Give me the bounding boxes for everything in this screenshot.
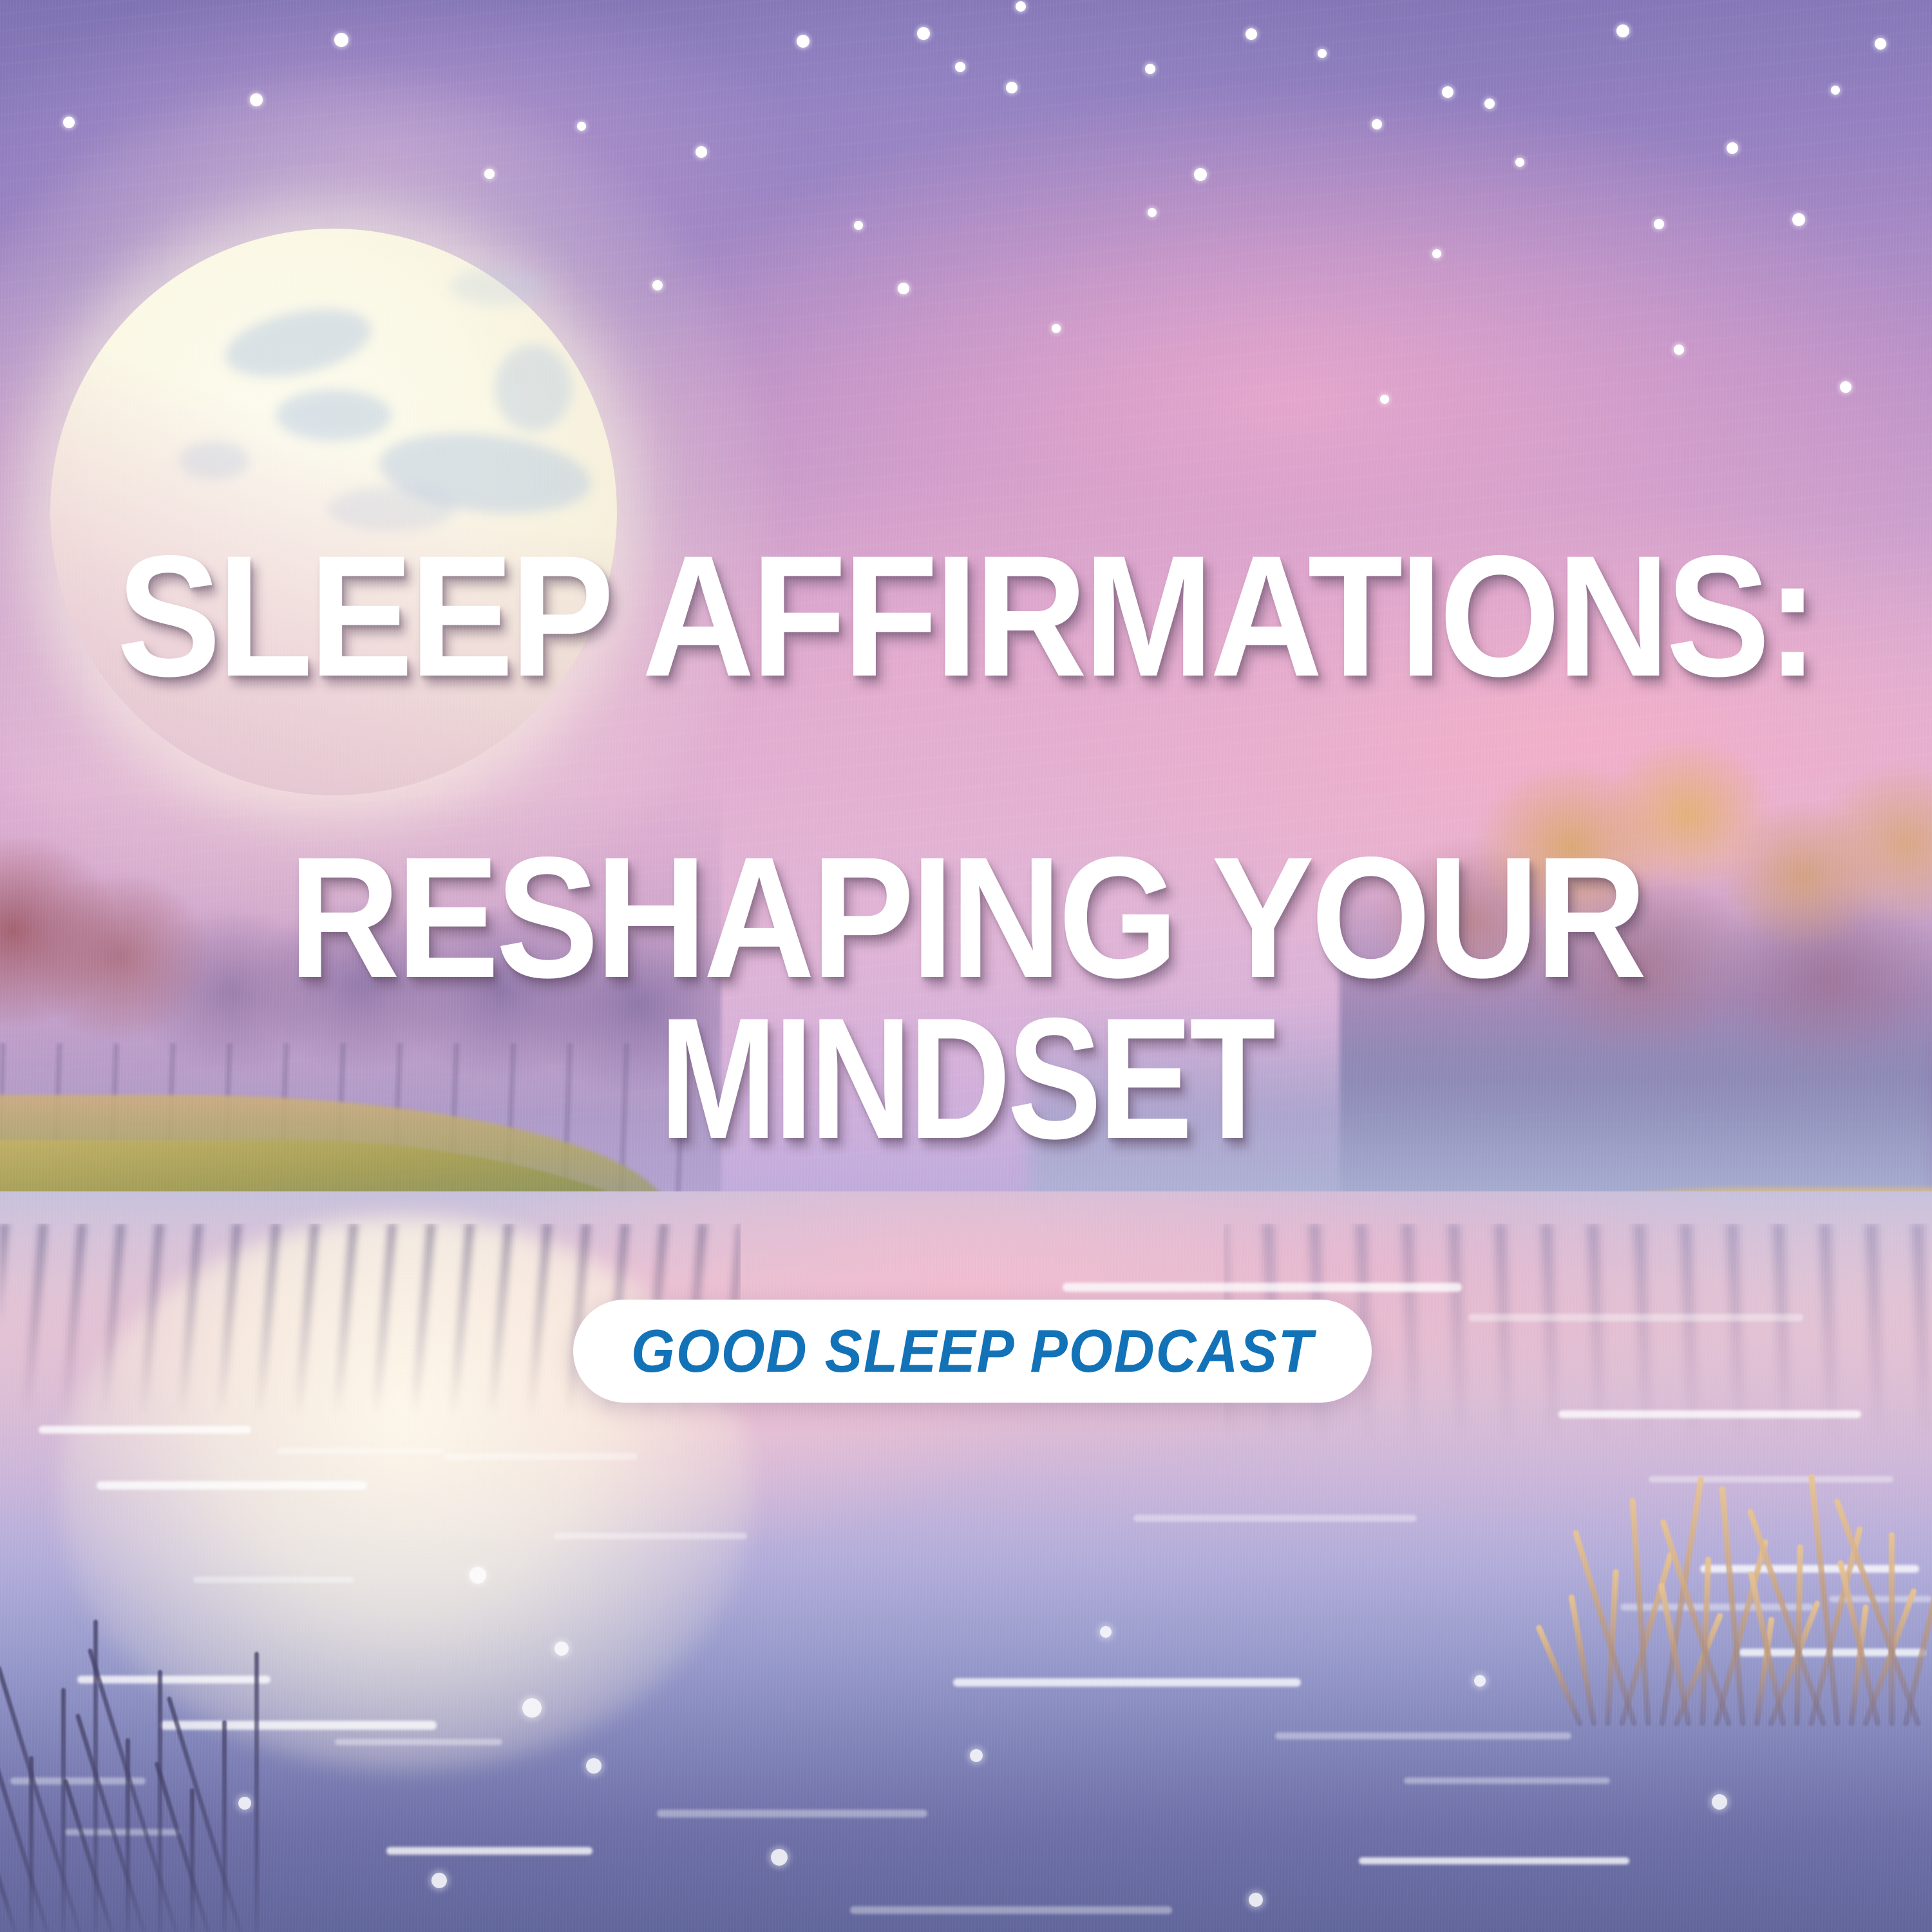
reed-stalk — [154, 1761, 210, 1932]
star-icon — [1674, 345, 1684, 355]
star-icon — [1432, 249, 1441, 258]
water-sparkle — [1474, 1675, 1486, 1687]
podcast-name-badge[interactable]: GOOD SLEEP PODCAST — [573, 1300, 1372, 1403]
water-sparkle — [1100, 1626, 1112, 1638]
foreground-reeds — [6, 1597, 277, 1932]
water-ripple — [1558, 1410, 1861, 1418]
reed-stalk — [61, 1688, 66, 1932]
star-icon — [1831, 86, 1840, 95]
water-ripple — [193, 1577, 354, 1583]
water-sparkle — [431, 1873, 447, 1888]
water-ripple — [97, 1481, 367, 1490]
star-icon — [1006, 82, 1018, 93]
star-icon — [577, 122, 586, 131]
water-ripple — [953, 1678, 1301, 1687]
right-reeds — [1552, 1455, 1932, 1726]
star-icon — [1654, 219, 1664, 229]
water-ripple — [1133, 1515, 1417, 1522]
reed-stalk — [190, 1788, 194, 1932]
reed-stalk — [1572, 1529, 1638, 1727]
star-icon — [917, 27, 930, 40]
reed-stalk — [1889, 1532, 1895, 1726]
podcast-cover-art: SLEEP AFFIRMATIONS: RESHAPING YOUR MINDS… — [0, 0, 1932, 1932]
star-icon — [1372, 119, 1382, 129]
water-ripple — [39, 1426, 251, 1434]
star-icon — [334, 33, 348, 47]
water-sparkle — [469, 1567, 486, 1584]
star-icon — [1515, 158, 1524, 167]
reed-stalk — [222, 1720, 227, 1932]
star-icon — [898, 283, 909, 294]
water-sparkle — [1712, 1794, 1727, 1810]
water-ripple — [444, 1453, 638, 1460]
water-ripple — [386, 1847, 592, 1855]
water-ripple — [1359, 1857, 1629, 1864]
star-icon — [955, 62, 965, 72]
water-sparkle — [554, 1642, 569, 1656]
water-ripple — [1275, 1732, 1571, 1739]
star-icon — [1727, 142, 1738, 154]
water-sparkle — [586, 1758, 601, 1774]
water-sparkle — [1249, 1893, 1263, 1907]
reed-stalk — [166, 1696, 242, 1932]
star-icon — [1318, 49, 1327, 58]
star-icon — [696, 146, 707, 158]
reed-stalk — [75, 1713, 146, 1932]
water-ripple — [1063, 1283, 1462, 1292]
star-icon — [1145, 64, 1155, 74]
star-icon — [1052, 324, 1061, 333]
reed-stalk — [254, 1652, 259, 1932]
star-icon — [1792, 213, 1805, 226]
star-icon — [1875, 38, 1886, 50]
star-icon — [1380, 395, 1389, 404]
water-sparkle — [771, 1849, 788, 1866]
podcast-name-label: GOOD SLEEP PODCAST — [631, 1316, 1314, 1386]
water-ripple — [1468, 1314, 1803, 1321]
star-icon — [1616, 24, 1629, 37]
star-icon — [1148, 208, 1157, 217]
star-icon — [1245, 28, 1257, 40]
water-ripple — [277, 1448, 444, 1454]
water-ripple — [850, 1906, 1172, 1914]
star-icon — [1194, 168, 1207, 181]
moon-haze — [50, 229, 617, 795]
water-ripple — [335, 1739, 502, 1745]
star-icon — [1484, 99, 1495, 109]
water-ripple — [554, 1533, 747, 1539]
star-icon — [1442, 86, 1454, 98]
water-sparkle — [522, 1698, 542, 1718]
star-icon — [63, 117, 75, 128]
star-icon — [1016, 1, 1026, 12]
water-ripple — [1404, 1777, 1610, 1784]
water-ripple — [657, 1810, 927, 1817]
star-icon — [1840, 381, 1851, 393]
star-icon — [854, 221, 863, 230]
water-sparkle — [970, 1749, 983, 1762]
star-icon — [797, 35, 810, 48]
reed-stalk — [1837, 1560, 1881, 1727]
